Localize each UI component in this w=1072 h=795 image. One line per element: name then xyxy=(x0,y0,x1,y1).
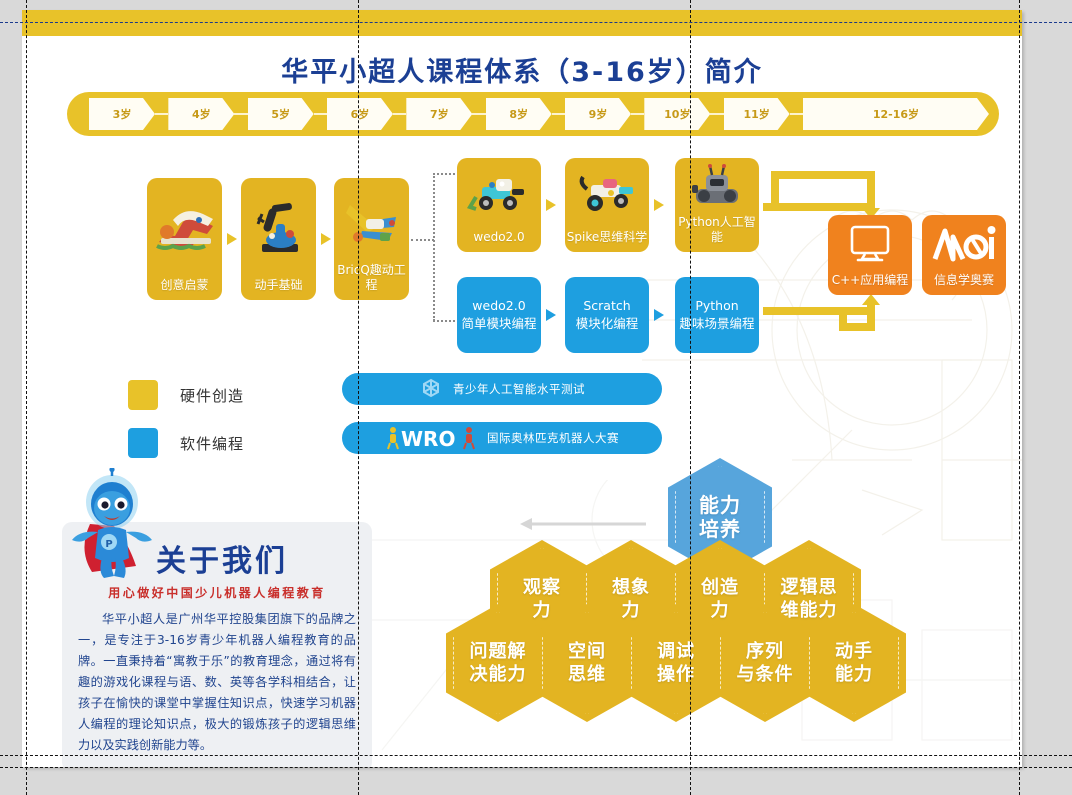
timeline-age-7[interactable]: 9岁 xyxy=(565,98,631,130)
svg-text:WRO: WRO xyxy=(401,427,455,450)
legend: 硬件创造 软件编程 xyxy=(128,380,244,476)
legend-swatch-blue xyxy=(128,428,158,458)
timeline-age-1[interactable]: 3岁 xyxy=(89,98,155,130)
infographic-page: 华平小超人课程体系（3-16岁）简介 3岁4岁5岁6岁7岁8岁9岁10岁11岁1… xyxy=(22,10,1022,767)
course-card-label: 创意启蒙 xyxy=(160,278,208,300)
timeline-age-label: 5岁 xyxy=(271,106,290,122)
course-card-label: C++应用编程 xyxy=(832,273,909,295)
robot-arm-model-icon xyxy=(241,178,316,278)
hex-label-line1: 序列 xyxy=(746,640,784,663)
hex-label-line2: 培养 xyxy=(699,517,741,541)
legend-label: 硬件创造 xyxy=(180,385,244,406)
branch-connector-spine xyxy=(433,173,435,321)
arrow-hwadv-1 xyxy=(546,199,556,211)
hex-label-line1: 调试 xyxy=(657,640,695,663)
ability-hex-r2-5[interactable]: 动手能力 xyxy=(802,604,906,722)
course-card-wedo20-software[interactable]: wedo2.0 简单模块编程 xyxy=(457,277,541,353)
hex-label-line1: 问题解 xyxy=(470,640,527,663)
arrow-hwadv-2 xyxy=(654,199,664,211)
branch-connector-bottom xyxy=(433,320,459,322)
hex-label: 动手能力 xyxy=(802,604,906,722)
hex-label-line1: 想象 xyxy=(612,576,650,599)
hex-label-line2: 思维 xyxy=(568,663,606,686)
course-card-spike[interactable]: Spike思维科学 xyxy=(565,158,649,252)
about-subtitle: 用心做好中国少儿机器人编程教育 xyxy=(78,584,356,601)
noi-logo-icon xyxy=(922,215,1006,273)
timeline-age-4[interactable]: 6岁 xyxy=(327,98,393,130)
page-title: 华平小超人课程体系（3-16岁）简介 xyxy=(22,50,1022,89)
banner-label: 国际奥林匹克机器人大赛 xyxy=(487,430,619,446)
timeline-age-6[interactable]: 8岁 xyxy=(486,98,552,130)
course-card-creative-enlightenment[interactable]: 创意启蒙 xyxy=(147,178,222,300)
timeline-age-label: 8岁 xyxy=(509,106,528,122)
timeline-age-8[interactable]: 10岁 xyxy=(644,98,710,130)
course-card-label: Spike思维科学 xyxy=(567,230,647,252)
gold-path-top-h2 xyxy=(771,171,875,179)
legend-item-software: 软件编程 xyxy=(128,428,244,458)
bricq-plane-model-icon xyxy=(334,178,409,263)
course-card-scratch[interactable]: Scratch 模块化编程 xyxy=(565,277,649,353)
svg-text:P: P xyxy=(105,539,112,550)
timeline-connector xyxy=(234,113,247,115)
course-card-wedo20-hardware[interactable]: wedo2.0 xyxy=(457,158,541,252)
banner-ai-test[interactable]: 青少年人工智能水平测试 xyxy=(342,373,662,405)
screenshot-stage: 华平小超人课程体系（3-16岁）简介 3岁4岁5岁6岁7岁8岁9岁10岁11岁1… xyxy=(0,0,1072,795)
gold-path-top-h xyxy=(763,203,875,211)
hex-label-line1: 创造 xyxy=(701,576,739,599)
timeline-age-3[interactable]: 5岁 xyxy=(248,98,314,130)
course-card-label: 信息学奥赛 xyxy=(934,273,994,295)
course-card-hands-on-basics[interactable]: 动手基础 xyxy=(241,178,316,300)
abilities-hex-cluster: 能力 培养 观察力想象力创造力逻辑思维能力问题解决能力空间思维调试操作序列与条件… xyxy=(402,458,1022,748)
timeline-age-label: 12-16岁 xyxy=(873,106,919,122)
about-body-text: 华平小超人是广州华平控股集团旗下的品牌之一，是专注于3-16岁青少年机器人编程教… xyxy=(78,609,356,756)
timeline-age-2[interactable]: 4岁 xyxy=(168,98,234,130)
timeline-connector xyxy=(631,113,644,115)
wedo-rover-model-icon xyxy=(457,158,541,230)
about-title: 关于我们 xyxy=(156,536,288,580)
hex-label-line1: 空间 xyxy=(568,640,606,663)
hex-label-line2: 能力 xyxy=(835,663,873,686)
legend-item-hardware: 硬件创造 xyxy=(128,380,244,410)
timeline-connector xyxy=(314,113,327,115)
mascot-avatar: P xyxy=(64,468,160,580)
arrow-hw-1 xyxy=(227,233,237,245)
age-timeline: 3岁4岁5岁6岁7岁8岁9岁10岁11岁12-16岁 xyxy=(67,92,999,136)
wro-logo-icon: WRO xyxy=(385,426,477,450)
timeline-age-label: 6岁 xyxy=(351,106,370,122)
hex-label-line1: 动手 xyxy=(835,640,873,663)
gold-path-bot-h xyxy=(763,307,867,315)
timeline-age-label: 11岁 xyxy=(743,106,769,122)
gold-arrowhead-bottom xyxy=(862,294,880,305)
timeline-age-label: 3岁 xyxy=(113,106,132,122)
course-card-line1: Python xyxy=(695,297,738,315)
gold-path-bot-up xyxy=(867,303,875,331)
ai-tank-robot-icon xyxy=(675,158,759,215)
legend-label: 软件编程 xyxy=(180,433,244,454)
ai-cube-logo-icon xyxy=(419,377,443,401)
hex-label-line2: 操作 xyxy=(657,663,695,686)
banner-wro[interactable]: WRO 国际奥林匹克机器人大赛 xyxy=(342,422,662,454)
timeline-age-9[interactable]: 11岁 xyxy=(724,98,790,130)
hex-label-line2: 与条件 xyxy=(737,663,794,686)
hex-label-line1: 能力 xyxy=(699,493,741,517)
course-card-label: Python人工智能 xyxy=(675,215,759,252)
branch-connector-stem xyxy=(411,239,434,241)
course-card-line2: 模块化编程 xyxy=(576,315,639,333)
course-card-python-scenario[interactable]: Python 趣味场景编程 xyxy=(675,277,759,353)
crop-guide-bottom2 xyxy=(0,767,1072,768)
hex-label-line1: 观察 xyxy=(523,576,561,599)
branch-connector-top xyxy=(433,173,459,175)
timeline-age-label: 9岁 xyxy=(589,106,608,122)
course-card-label: 动手基础 xyxy=(254,278,302,300)
course-card-label: wedo2.0 xyxy=(473,230,524,252)
timeline-connector xyxy=(710,113,723,115)
gold-path-down-v xyxy=(867,171,875,211)
course-card-line2: 简单模块编程 xyxy=(461,315,536,333)
arrow-sw-2 xyxy=(654,309,664,321)
timeline-connector xyxy=(552,113,565,115)
lego-dino-model-icon xyxy=(147,178,222,278)
timeline-connector xyxy=(472,113,485,115)
timeline-age-label: 4岁 xyxy=(192,106,211,122)
arrow-hw-2 xyxy=(321,233,331,245)
hex-label-line1: 逻辑思 xyxy=(781,576,838,599)
spike-buggy-model-icon xyxy=(565,158,649,230)
timeline-connector xyxy=(393,113,406,115)
banner-label: 青少年人工智能水平测试 xyxy=(453,381,585,397)
age-timeline-track: 3岁4岁5岁6岁7岁8岁9岁10岁11岁12-16岁 xyxy=(89,98,989,130)
timeline-connector xyxy=(155,113,168,115)
course-card-noi[interactable]: 信息学奥赛 xyxy=(922,215,1006,295)
course-card-bricq[interactable]: BricQ趣动工程 xyxy=(334,178,409,300)
course-card-cpp[interactable]: C++应用编程 xyxy=(828,215,912,295)
course-card-line2: 趣味场景编程 xyxy=(679,315,754,333)
arrow-sw-1 xyxy=(546,309,556,321)
hex-label-line2: 决能力 xyxy=(470,663,527,686)
timeline-age-label: 10岁 xyxy=(664,106,690,122)
timeline-age-10[interactable]: 12-16岁 xyxy=(803,98,989,130)
legend-swatch-yellow xyxy=(128,380,158,410)
course-card-python-ai[interactable]: Python人工智能 xyxy=(675,158,759,252)
course-card-label: BricQ趣动工程 xyxy=(334,263,409,300)
course-card-line1: Scratch xyxy=(583,297,630,315)
course-card-line1: wedo2.0 xyxy=(472,297,525,315)
top-accent-bar xyxy=(22,10,1022,36)
timeline-connector xyxy=(790,113,803,115)
monitor-icon xyxy=(828,215,912,273)
timeline-age-label: 7岁 xyxy=(430,106,449,122)
timeline-age-5[interactable]: 7岁 xyxy=(406,98,472,130)
